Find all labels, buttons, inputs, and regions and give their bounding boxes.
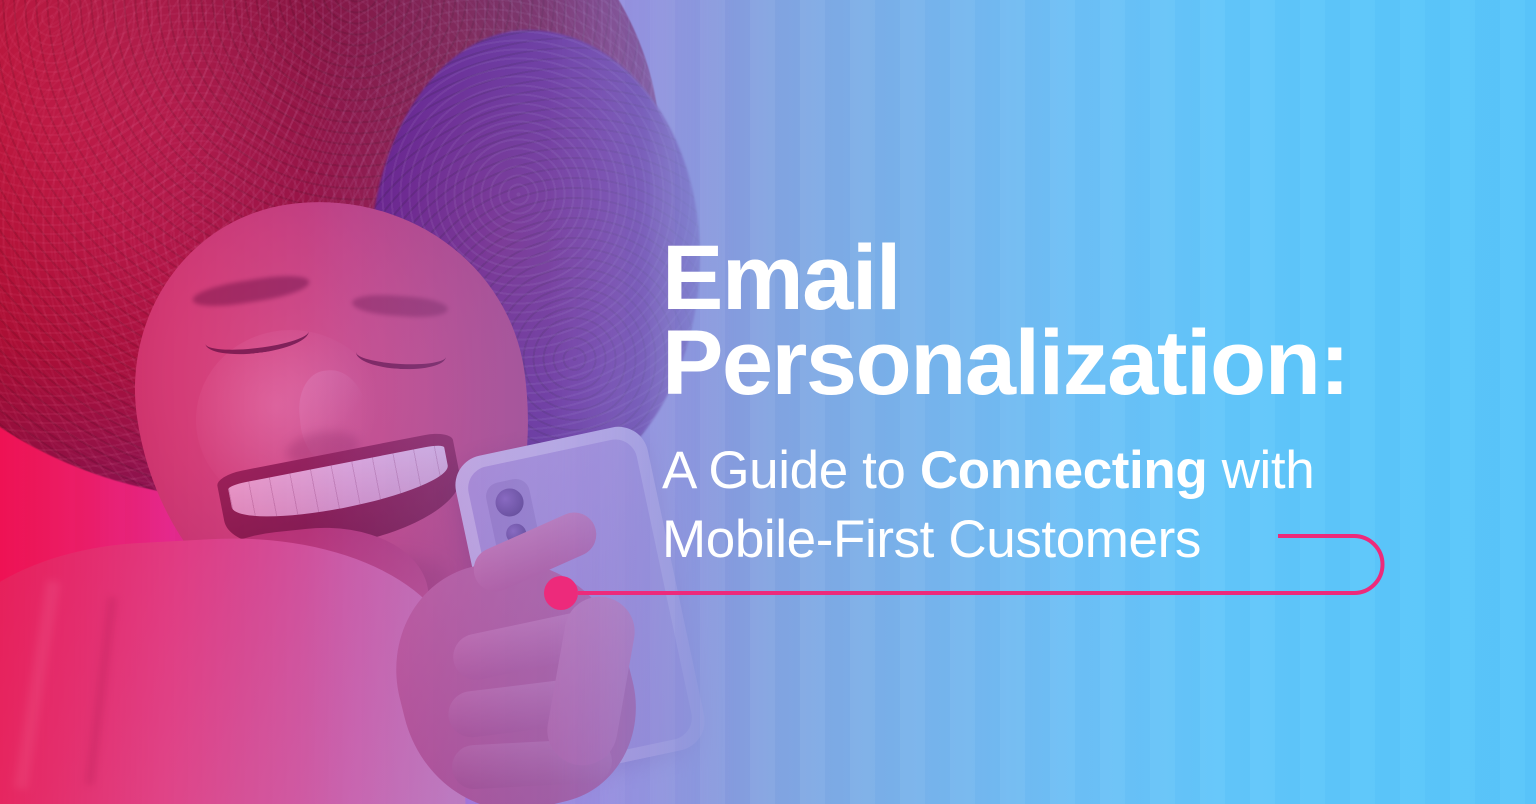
page-title: EmailPersonalization: <box>662 236 1422 406</box>
hero-banner: EmailPersonalization: A Guide to Connect… <box>0 0 1536 804</box>
subtitle-line-2: Mobile-First Customers <box>662 510 1201 569</box>
subtitle-emphasis: Connecting <box>920 441 1207 500</box>
photo-fade-overlay <box>0 0 760 804</box>
hero-text-block: EmailPersonalization: A Guide to Connect… <box>662 236 1422 574</box>
subtitle-part-2: with <box>1207 441 1314 500</box>
hero-photo-content <box>0 0 760 804</box>
hero-photo <box>0 0 760 804</box>
headline-line-2: Personalization: <box>662 312 1349 414</box>
subtitle-part-1: A Guide to <box>662 441 920 500</box>
page-subtitle: A Guide to Connecting withMobile-First C… <box>662 436 1422 574</box>
